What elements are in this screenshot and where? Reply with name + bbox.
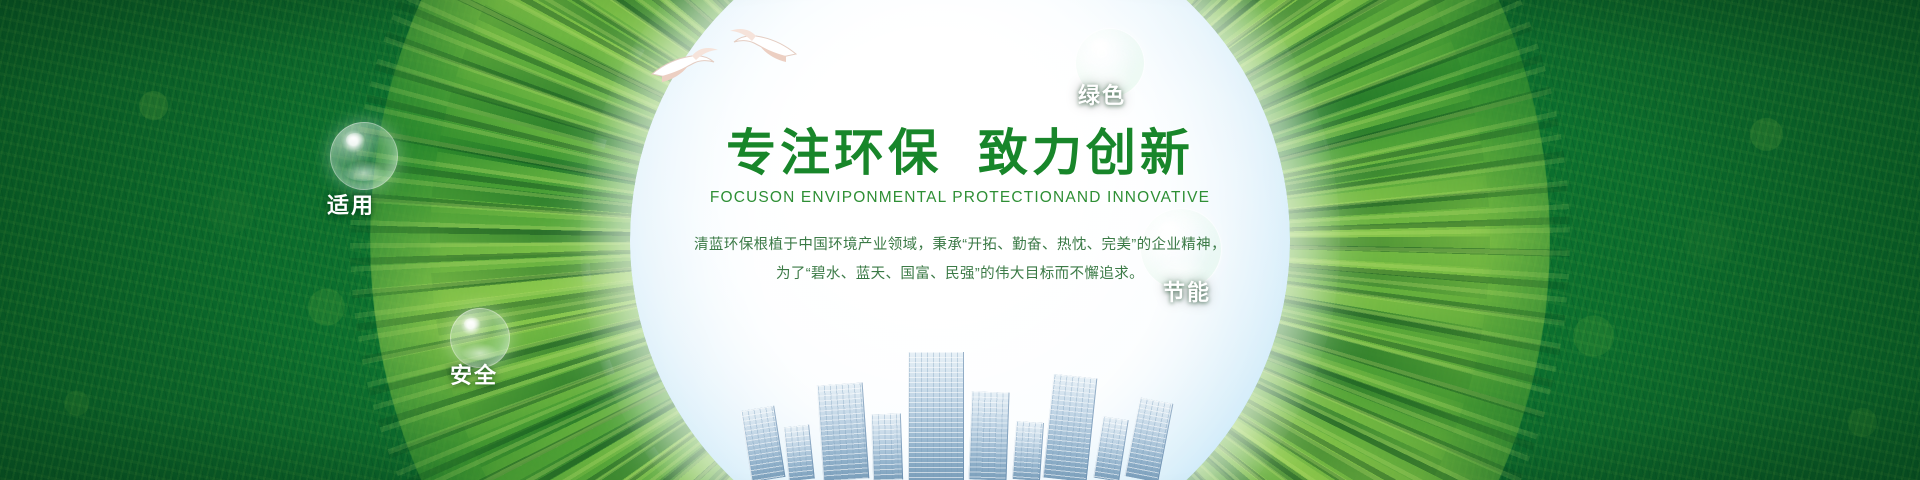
bubble-label-safe: 安全 xyxy=(450,358,498,390)
page-subtitle: FOCUSON ENVIPONMENTAL PROTECTIONAND INNO… xyxy=(0,189,1920,207)
description-line-1: 清蓝环保根植于中国环境产业领域，秉承“开拓、勤奋、热忱、完美”的企业精神， xyxy=(0,231,1920,260)
hero-copy: 专注环保 致力创新 FOCUSON ENVIPONMENTAL PROTECTI… xyxy=(0,126,1920,290)
tower-cluster xyxy=(720,330,1200,480)
page-title: 专注环保 致力创新 xyxy=(0,126,1920,180)
dove-icon-left xyxy=(648,44,726,88)
description-line-2: 为了“碧水、蓝天、国富、民强”的伟大目标而不懈追求。 xyxy=(0,260,1920,289)
hero-description: 清蓝环保根植于中国环境产业领域，秉承“开拓、勤奋、热忱、完美”的企业精神， 为了… xyxy=(0,231,1920,290)
dove-icon-right xyxy=(726,26,800,68)
hero-banner: 绿色适用节能安全 专注环保 致力创新 FOCUSON ENVIPONMENTAL… xyxy=(0,0,1920,480)
bubble-label-green: 绿色 xyxy=(1078,78,1126,110)
